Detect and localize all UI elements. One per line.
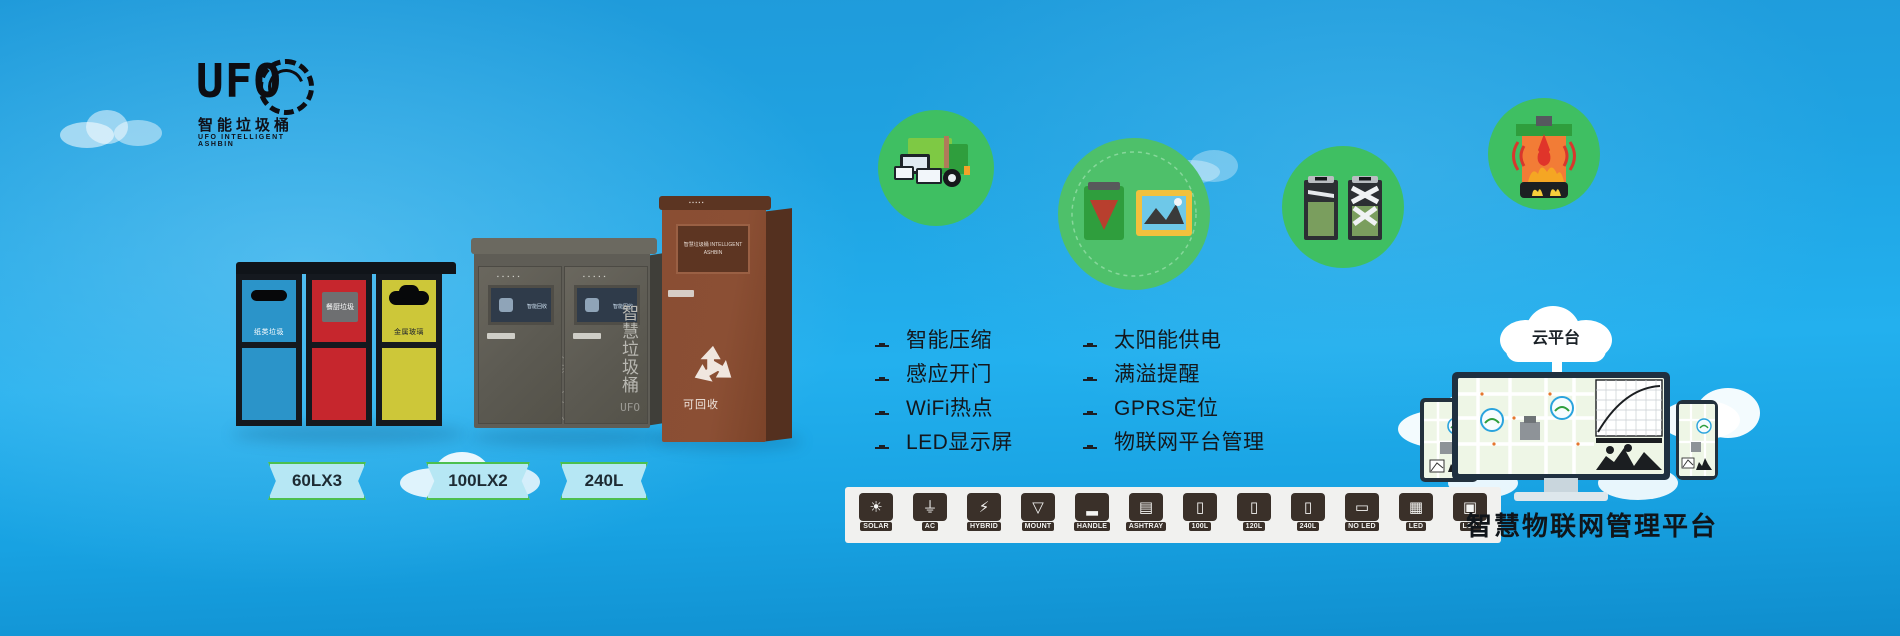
spec-icon-handle[interactable]: ▂HANDLE: [1067, 493, 1117, 537]
spec-icon-label: 240L: [1297, 522, 1320, 531]
feature-item: 太阳能供电: [1080, 322, 1265, 356]
kitchen-bin-face: 餐厨垃圾: [312, 280, 366, 342]
feature-circle-compression: [1058, 138, 1210, 290]
capacity-120l-icon-glyph: ▯: [1250, 500, 1258, 515]
capacity-ribbon-100lx2: 100LX2: [426, 462, 530, 500]
feature-label: 智能压缩: [906, 324, 992, 354]
capacity-label-60lx3: 60LX3: [292, 471, 342, 491]
led-icon: ▦: [1399, 493, 1433, 521]
monitor-bullet-icon: [1080, 434, 1100, 449]
spec-icon-label: AC: [922, 522, 939, 531]
paper-bin-label: 纸类垃圾: [242, 327, 296, 337]
monitor-base: [1514, 492, 1608, 501]
double-bin-vertical-text: 智慧垃圾桶: [616, 304, 638, 394]
capacity-ribbon-60lx3: 60LX3: [268, 462, 366, 500]
spec-icon-ashtray[interactable]: ▤ASHTRAY: [1121, 493, 1171, 537]
monitor-screen: [1458, 378, 1664, 474]
product-triple-bin: 纸类垃圾 餐厨垃圾 金属玻璃: [236, 262, 456, 430]
single-bin-info-panel: 智慧垃圾桶 INTELLIGENT ASHBIN: [676, 224, 750, 274]
capacity-label-100lx2: 100LX2: [448, 471, 508, 491]
monitor-bullet-icon: [872, 400, 892, 415]
spec-icon-240l[interactable]: ▯240L: [1283, 493, 1333, 537]
spec-icon-no-led[interactable]: ▭NO LED: [1337, 493, 1387, 537]
handle-icon-glyph: ▂: [1086, 500, 1098, 515]
logo-chinese-name: 智能垃圾桶: [198, 114, 293, 135]
metal-glass-bin-lower-panel: [382, 348, 436, 420]
capacity-120l-icon: ▯: [1237, 493, 1271, 521]
handle-icon: ▂: [1075, 493, 1109, 521]
monitor-bullet-icon: [1080, 332, 1100, 347]
fire-alarm-icon: [1488, 98, 1600, 210]
plug-icon-glyph: ⏚: [922, 500, 937, 515]
monitor-bullet-icon: [1080, 366, 1100, 381]
spec-icon-ac[interactable]: ⏚AC: [905, 493, 955, 537]
door-left-handle[interactable]: [487, 333, 515, 339]
metal-glass-bin-label: 金属玻璃: [382, 327, 436, 337]
door-right-handle[interactable]: [573, 333, 601, 339]
device-phone: [1676, 400, 1718, 480]
spec-icon-solar[interactable]: ☀SOLAR: [851, 493, 901, 537]
sun-icon: ☀: [859, 493, 893, 521]
feature-circle-fleet-monitoring: [878, 110, 994, 226]
spec-icon-label: SOLAR: [860, 522, 892, 531]
capacity-100l-icon-glyph: ▯: [1196, 500, 1204, 515]
feature-label: WiFi热点: [906, 392, 993, 422]
feature-label: GPRS定位: [1114, 392, 1219, 422]
spec-icon-label: 120L: [1243, 522, 1266, 531]
platform-dashboard-graphic: [1458, 378, 1664, 474]
feature-label: 太阳能供电: [1114, 324, 1222, 354]
monitor-frame: [1452, 372, 1670, 480]
kitchen-bin-lower-panel: [312, 348, 366, 420]
door-left-screen-icon: [499, 298, 513, 312]
single-bin-side-panel: [762, 208, 792, 442]
paper-bin-slot-icon: [251, 290, 287, 301]
feature-item: 满溢提醒: [1080, 356, 1265, 390]
capacity-ribbon-240l: 240L: [560, 462, 648, 500]
spec-icon-strip: ☀SOLAR⏚AC⚡HYBRID▽MOUNT▂HANDLE▤ASHTRAY▯10…: [845, 487, 1501, 543]
ashtray-icon: ▤: [1129, 493, 1163, 521]
plug-icon: ⏚: [913, 493, 947, 521]
feature-item: LED显示屏: [872, 424, 1013, 458]
feature-label: 满溢提醒: [1114, 358, 1200, 388]
capacity-100l-icon: ▯: [1183, 493, 1217, 521]
monitor-bullet-icon: [872, 434, 892, 449]
capacity-label-240l: 240L: [585, 471, 624, 491]
feature-item: 感应开门: [872, 356, 1013, 390]
logo-english-name: UFO INTELLIGENT ASHBIN: [198, 134, 318, 148]
wall-mount-icon: ▽: [1021, 493, 1055, 521]
single-bin-handle[interactable]: [668, 290, 694, 297]
recycle-label: 可回收: [662, 396, 740, 412]
triple-bin-lid: [236, 262, 456, 274]
capacity-240l-icon-glyph: ▯: [1304, 500, 1312, 515]
marketing-banner: UFO 智能垃圾桶 UFO INTELLIGENT ASHBIN 纸类垃圾 餐厨…: [0, 0, 1900, 636]
spec-icon-label: MOUNT: [1022, 522, 1055, 531]
spec-icon-label: 100L: [1189, 522, 1212, 531]
paper-bin-lower-panel: [242, 348, 296, 420]
metal-glass-bin-slot-icon: [389, 291, 429, 305]
device-desktop-monitor: [1452, 372, 1670, 502]
hybrid-power-icon-glyph: ⚡: [979, 500, 990, 515]
spec-icon-mount[interactable]: ▽MOUNT: [1013, 493, 1063, 537]
phone-dashboard-graphic: [1679, 404, 1715, 476]
ashtray-icon-glyph: ▤: [1139, 500, 1153, 515]
metal-glass-bin-face: 金属玻璃: [382, 280, 436, 342]
double-bin-logo: UFO: [620, 401, 640, 414]
spec-icon-label: LED: [1406, 522, 1427, 531]
product-single-bin: 智慧垃圾桶 INTELLIGENT ASHBIN 可回收 ▪▪▪▪▪: [662, 196, 792, 442]
capacity-240l-icon: ▯: [1291, 493, 1325, 521]
led-icon-glyph: ▦: [1409, 500, 1423, 515]
feature-circle-fire-alarm: [1488, 98, 1600, 210]
cloud-platform-label: 云平台: [1496, 324, 1616, 348]
feature-column-right: 太阳能供电 满溢提醒 GPRS定位 物联网平台管理: [1080, 322, 1265, 458]
paper-bin-face: 纸类垃圾: [242, 280, 296, 342]
feature-item: 物联网平台管理: [1080, 424, 1265, 458]
spec-icon-label: HANDLE: [1074, 522, 1110, 531]
feature-label: LED显示屏: [906, 426, 1013, 456]
feature-circle-bin-compare: [1282, 146, 1404, 268]
double-bin-body: ▪ ▪ ▪ ▪ ▪ 智能回收 ▪ ▪ ▪ ▪ ▪ 智能回收 智慧垃圾桶 UFO: [474, 248, 650, 428]
spec-icon-100l[interactable]: ▯100L: [1175, 493, 1225, 537]
double-bin-door-left[interactable]: ▪ ▪ ▪ ▪ ▪ 智能回收: [478, 266, 562, 424]
feature-item: GPRS定位: [1080, 390, 1265, 424]
hybrid-power-icon: ⚡: [967, 493, 1001, 521]
bin-compartment-kitchen: 餐厨垃圾: [306, 274, 372, 426]
platform-caption: 智慧物联网管理平台: [1432, 506, 1752, 543]
phone-screen: [1679, 404, 1715, 476]
spec-icon-120l[interactable]: ▯120L: [1229, 493, 1279, 537]
recycle-icon: [684, 342, 742, 392]
double-bin-lid: [471, 238, 657, 254]
spec-icon-label: HYBRID: [967, 522, 1001, 531]
feature-column-left: 智能压缩 感应开门 WiFi热点 LED显示屏: [872, 322, 1013, 458]
bin-compare-icon: [1282, 146, 1404, 268]
no-led-icon: ▭: [1345, 493, 1379, 521]
monitor-bullet-icon: [872, 366, 892, 381]
monitor-bullet-icon: [1080, 400, 1100, 415]
single-bin-body: 智慧垃圾桶 INTELLIGENT ASHBIN 可回收: [662, 204, 766, 442]
single-bin-indicator-dots: ▪▪▪▪▪: [689, 200, 705, 206]
sun-icon-glyph: ☀: [869, 500, 882, 515]
bin-compartment-metal-glass: 金属玻璃: [376, 274, 442, 426]
feature-item: WiFi热点: [872, 390, 1013, 424]
spec-icon-label: ASHTRAY: [1126, 522, 1167, 531]
door-left-screen: 智能回收: [488, 285, 554, 325]
feature-item: 智能压缩: [872, 322, 1013, 356]
fleet-truck-icon: [878, 110, 994, 226]
door-right-indicator-dots: ▪ ▪ ▪ ▪ ▪: [583, 274, 606, 280]
spec-icon-label: NO LED: [1345, 522, 1379, 531]
feature-label: 感应开门: [906, 358, 992, 388]
door-left-indicator-dots: ▪ ▪ ▪ ▪ ▪: [497, 274, 520, 280]
spec-icon-hybrid[interactable]: ⚡HYBRID: [959, 493, 1009, 537]
product-double-bin: ▪ ▪ ▪ ▪ ▪ 智能回收 ▪ ▪ ▪ ▪ ▪ 智能回收 智慧垃圾桶 UFO: [474, 238, 672, 436]
wall-mount-icon-glyph: ▽: [1032, 500, 1044, 515]
door-right-screen-icon: [585, 298, 599, 312]
monitor-bullet-icon: [872, 332, 892, 347]
single-bin-lid: ▪▪▪▪▪: [659, 196, 771, 210]
kitchen-bin-label: 餐厨垃圾: [322, 292, 358, 322]
no-led-icon-glyph: ▭: [1355, 500, 1369, 515]
brand-logo: UFO 智能垃圾桶 UFO INTELLIGENT ASHBIN: [196, 54, 318, 150]
feature-label: 物联网平台管理: [1114, 426, 1265, 456]
door-left-screen-text: 智能回收: [527, 303, 547, 310]
compression-icon: [1058, 138, 1210, 290]
bin-compartment-paper: 纸类垃圾: [236, 274, 302, 426]
